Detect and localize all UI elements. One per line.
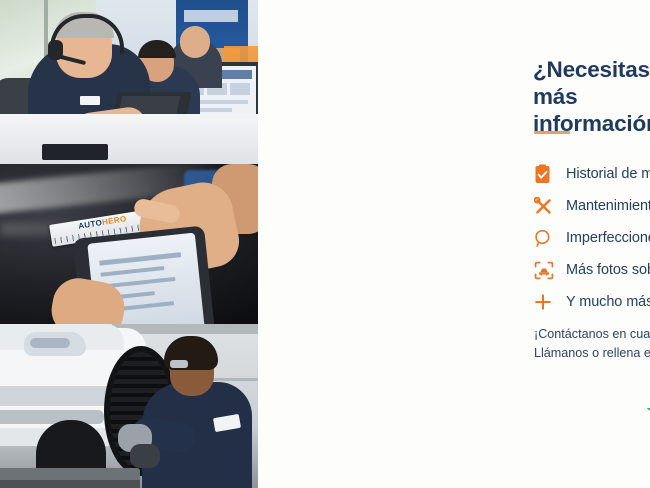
mechanic-wheel-photo: [0, 324, 258, 488]
photo-collage: AUTOHERO: [0, 0, 258, 488]
trustpilot-widget[interactable]: Trustpilot Excelente: [646, 386, 650, 452]
feature-item-mas: Y mucho más: [534, 286, 650, 318]
plus-icon: [534, 293, 566, 311]
feature-label: Imperfecciones: [566, 230, 650, 246]
feature-item-mantenimiento: Mantenimiento realizado: [534, 190, 650, 222]
trustpilot-star-icon: [646, 400, 650, 427]
feature-list: Historial de mantenimientos Mantenimient…: [534, 158, 650, 318]
car-photo-frame-icon: [534, 261, 566, 280]
feature-label: Mantenimiento realizado: [566, 198, 650, 214]
contact-paragraph: ¡Contáctanos en cualquier momento para m…: [534, 325, 650, 362]
clipboard-check-icon: [534, 164, 566, 184]
trustpilot-logo[interactable]: Trustpilot: [646, 400, 650, 427]
content-panel: ¿Necesitas más información? Estamos enca…: [258, 0, 650, 488]
feature-label: Y mucho más: [566, 294, 650, 310]
call-center-agents-photo: [0, 0, 258, 164]
vehicle-inspection-photo: AUTOHERO: [0, 164, 258, 324]
magnifier-icon: [534, 229, 566, 248]
feature-label: Historial de mantenimientos: [566, 166, 650, 182]
page-title: ¿Necesitas más información?: [533, 56, 650, 137]
feature-item-fotos: Más fotos sobre el coche: [534, 254, 650, 286]
page-title-line2: más información?: [533, 83, 650, 137]
tools-cross-icon: [534, 197, 566, 216]
feature-item-imperfecciones: Imperfecciones: [534, 222, 650, 254]
contact-line-1: ¡Contáctanos en cualquier momento para m…: [534, 325, 650, 344]
information-banner: AUTOHERO: [0, 0, 650, 488]
feature-label: Más fotos sobre el coche: [566, 262, 650, 278]
page-title-line1: ¿Necesitas: [533, 57, 650, 82]
contact-line-2: Llámanos o rellena el formulario de cont…: [534, 344, 650, 363]
title-divider: [534, 131, 570, 134]
feature-item-historial: Historial de mantenimientos: [534, 158, 650, 190]
